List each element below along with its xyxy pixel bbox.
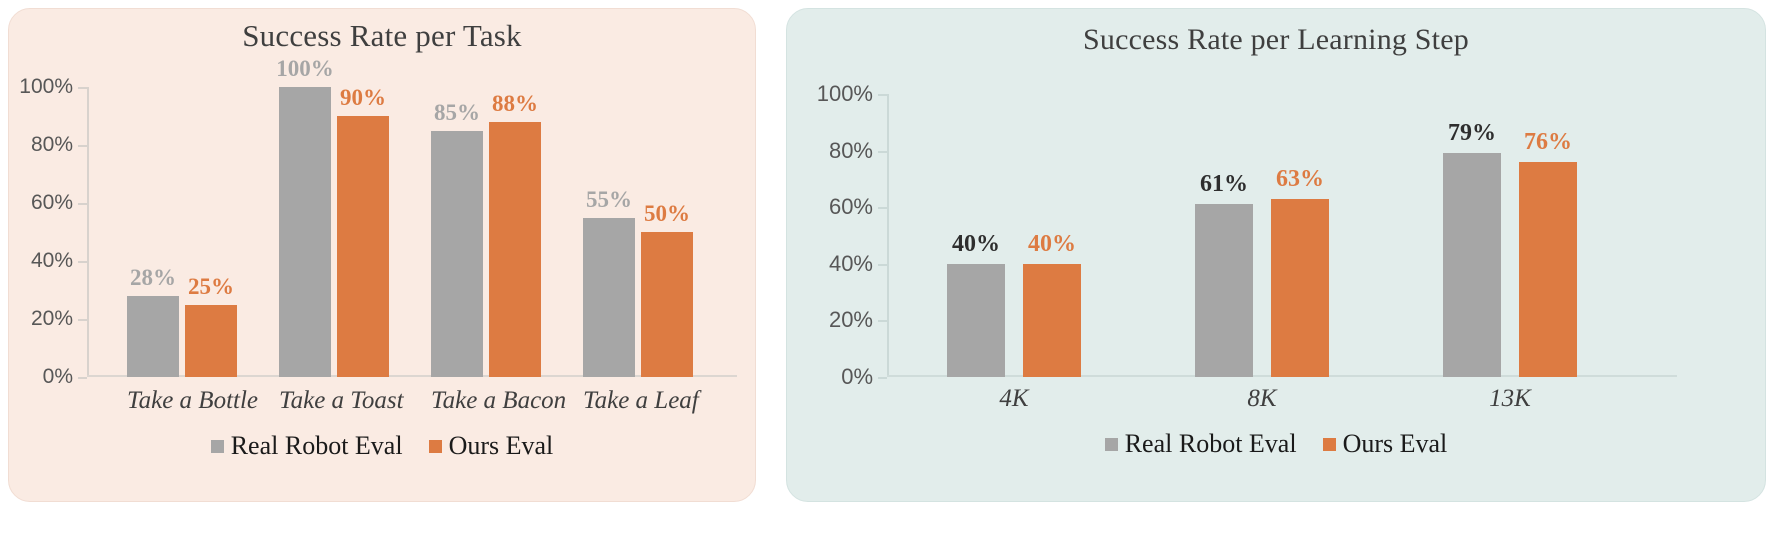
plot-area-right: 0%20%40%60%80%100%40%40%61%63%79%76%	[887, 94, 1677, 377]
y-axis-tick	[78, 261, 87, 263]
y-axis-tick	[78, 145, 87, 147]
y-axis-tick-label: 80%	[31, 133, 73, 157]
y-axis-tick-label: 20%	[31, 307, 73, 331]
bar-ours-eval[interactable]: 40%	[1023, 264, 1081, 377]
bar-real-robot-eval[interactable]: 79%	[1443, 153, 1501, 377]
plot-area-left: 0%20%40%60%80%100%28%25%100%90%85%88%55%…	[87, 87, 737, 377]
bar-value-label: 61%	[1200, 171, 1248, 198]
legend-label: Ours Eval	[449, 431, 554, 461]
bar-value-label: 28%	[130, 265, 176, 291]
bar-value-label: 85%	[434, 100, 480, 126]
bar-ours-eval[interactable]: 88%	[489, 122, 541, 377]
bar-value-label: 40%	[1028, 231, 1076, 258]
chart-title-right: Success Rate per Learning Step	[787, 23, 1765, 57]
bar-group: 79%76%	[1443, 153, 1577, 377]
bar-value-label: 50%	[644, 201, 690, 227]
legend-swatch-icon	[1323, 438, 1336, 451]
bar-ours-eval[interactable]: 50%	[641, 232, 693, 377]
y-axis-tick	[878, 320, 887, 322]
bar-ours-eval[interactable]: 90%	[337, 116, 389, 377]
bar-value-label: 55%	[586, 187, 632, 213]
legend-swatch-icon	[429, 440, 442, 453]
y-axis-tick	[878, 377, 887, 379]
x-axis-category-label: Take a Bottle	[127, 387, 237, 415]
bar-value-label: 79%	[1448, 120, 1496, 147]
bar-value-label: 40%	[952, 231, 1000, 258]
y-axis-tick	[878, 207, 887, 209]
legend-right: Real Robot EvalOurs Eval	[787, 429, 1765, 459]
y-axis-tick-label: 80%	[829, 138, 873, 164]
y-axis-tick-label: 20%	[829, 307, 873, 333]
bar-group: 40%40%	[947, 264, 1081, 377]
legend-label: Real Robot Eval	[1125, 429, 1297, 459]
bar-ours-eval[interactable]: 76%	[1519, 162, 1577, 377]
x-axis-category-label: Take a Leaf	[583, 387, 693, 415]
y-axis-tick	[78, 87, 87, 89]
bar-real-robot-eval[interactable]: 28%	[127, 296, 179, 377]
bar-value-label: 25%	[188, 274, 234, 300]
bar-value-label: 90%	[340, 85, 386, 111]
chart-panel-success-rate-per-task: Success Rate per Task 0%20%40%60%80%100%…	[8, 8, 756, 502]
y-axis-tick	[78, 377, 87, 379]
y-axis-tick-label: 100%	[817, 81, 873, 107]
bar-group: 55%50%	[583, 218, 693, 378]
bar-group: 61%63%	[1195, 199, 1329, 377]
legend-item[interactable]: Ours Eval	[1323, 429, 1448, 459]
y-axis-tick	[878, 264, 887, 266]
bar-real-robot-eval[interactable]: 55%	[583, 218, 635, 378]
x-axis-category-label: 4K	[947, 385, 1081, 413]
y-axis-tick	[878, 151, 887, 153]
y-axis-tick-label: 0%	[841, 364, 873, 390]
y-axis-tick-label: 40%	[829, 251, 873, 277]
bar-real-robot-eval[interactable]: 85%	[431, 131, 483, 378]
x-axis-category-label: 13K	[1443, 385, 1577, 413]
x-axis-category-label: 8K	[1195, 385, 1329, 413]
y-axis-tick	[878, 94, 887, 96]
bar-value-label: 63%	[1276, 166, 1324, 193]
y-axis-tick	[78, 319, 87, 321]
x-axis-category-label: Take a Bacon	[431, 387, 541, 415]
bar-value-label: 88%	[492, 91, 538, 117]
bar-group: 100%90%	[279, 87, 389, 377]
legend-item[interactable]: Ours Eval	[429, 431, 554, 461]
bar-ours-eval[interactable]: 63%	[1271, 199, 1329, 377]
bar-group: 85%88%	[431, 122, 541, 377]
bar-real-robot-eval[interactable]: 61%	[1195, 204, 1253, 377]
bar-group: 28%25%	[127, 296, 237, 377]
y-axis-tick-label: 60%	[829, 194, 873, 220]
y-axis-tick-label: 60%	[31, 191, 73, 215]
legend-left: Real Robot EvalOurs Eval	[9, 431, 755, 461]
legend-swatch-icon	[211, 440, 224, 453]
legend-item[interactable]: Real Robot Eval	[1105, 429, 1297, 459]
legend-label: Real Robot Eval	[231, 431, 403, 461]
y-axis-tick-label: 100%	[19, 75, 73, 99]
chart-title-left: Success Rate per Task	[9, 18, 755, 54]
bar-value-label: 76%	[1524, 129, 1572, 156]
y-axis-line-left	[87, 87, 89, 377]
bar-ours-eval[interactable]: 25%	[185, 305, 237, 378]
y-axis-line-right	[887, 94, 889, 377]
bar-real-robot-eval[interactable]: 40%	[947, 264, 1005, 377]
y-axis-tick	[78, 203, 87, 205]
chart-panel-success-rate-per-learning-step: Success Rate per Learning Step 0%20%40%6…	[786, 8, 1766, 502]
legend-label: Ours Eval	[1343, 429, 1448, 459]
bar-real-robot-eval[interactable]: 100%	[279, 87, 331, 377]
legend-swatch-icon	[1105, 438, 1118, 451]
figure-container: Success Rate per Task 0%20%40%60%80%100%…	[0, 0, 1774, 550]
legend-item[interactable]: Real Robot Eval	[211, 431, 403, 461]
y-axis-tick-label: 0%	[43, 365, 73, 389]
bar-value-label: 100%	[276, 56, 334, 82]
y-axis-tick-label: 40%	[31, 249, 73, 273]
x-axis-category-label: Take a Toast	[279, 387, 389, 415]
